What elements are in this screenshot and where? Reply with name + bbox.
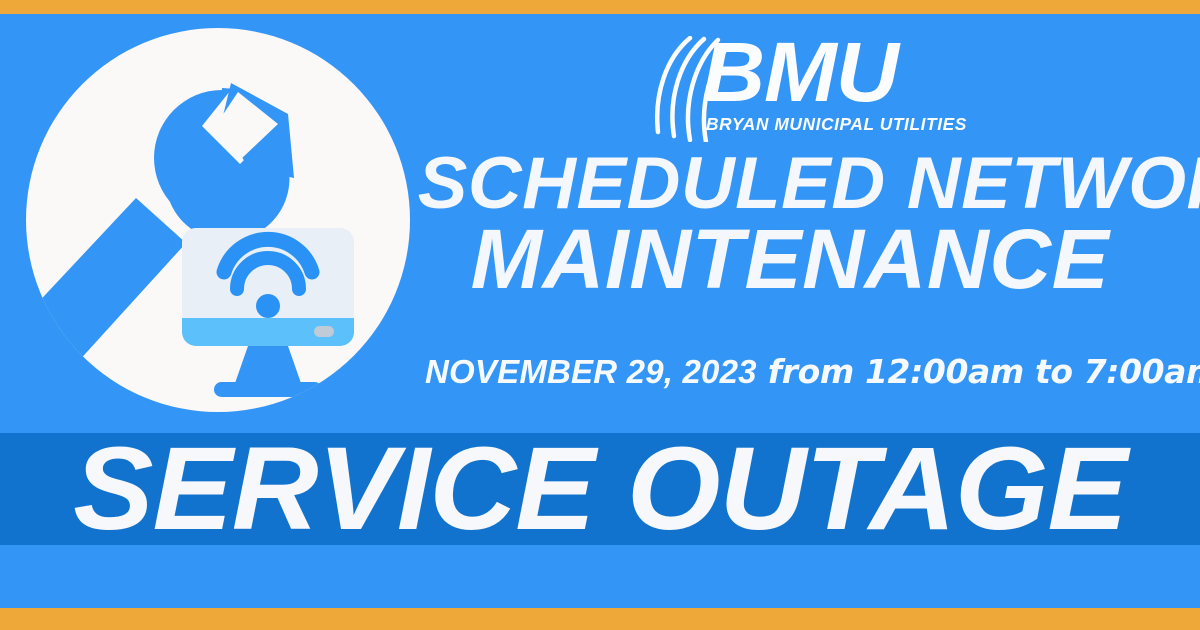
maintenance-badge-art bbox=[26, 28, 410, 412]
wifi-dot-icon bbox=[256, 294, 280, 318]
headline: SCHEDULED NETWORK MAINTENANCE bbox=[425, 150, 1155, 298]
dateline-time: from 12:00am to 7:00am bbox=[757, 352, 1200, 391]
headline-line-1: SCHEDULED NETWORK bbox=[418, 150, 1163, 217]
top-border-stripe bbox=[0, 0, 1200, 14]
maintenance-badge bbox=[26, 28, 410, 412]
headline-line-2: MAINTENANCE bbox=[418, 221, 1163, 298]
dateline: NOVEMBER 29, 2023 from 12:00am to 7:00am bbox=[425, 352, 1155, 391]
logo-subtitle: BRYAN MUNICIPAL UTILITIES bbox=[706, 114, 967, 135]
dateline-date: NOVEMBER 29, 2023 bbox=[425, 353, 757, 390]
bottom-border-stripe bbox=[0, 608, 1200, 630]
logo-wordmark: BMU bbox=[702, 30, 898, 114]
service-outage-poster: BMU BRYAN MUNICIPAL UTILITIES SCHEDULED … bbox=[0, 0, 1200, 630]
monitor-wifi-icon bbox=[182, 228, 354, 397]
service-outage-text: SERVICE OUTAGE bbox=[0, 424, 1200, 554]
bmu-logo: BMU BRYAN MUNICIPAL UTILITIES bbox=[650, 34, 930, 144]
